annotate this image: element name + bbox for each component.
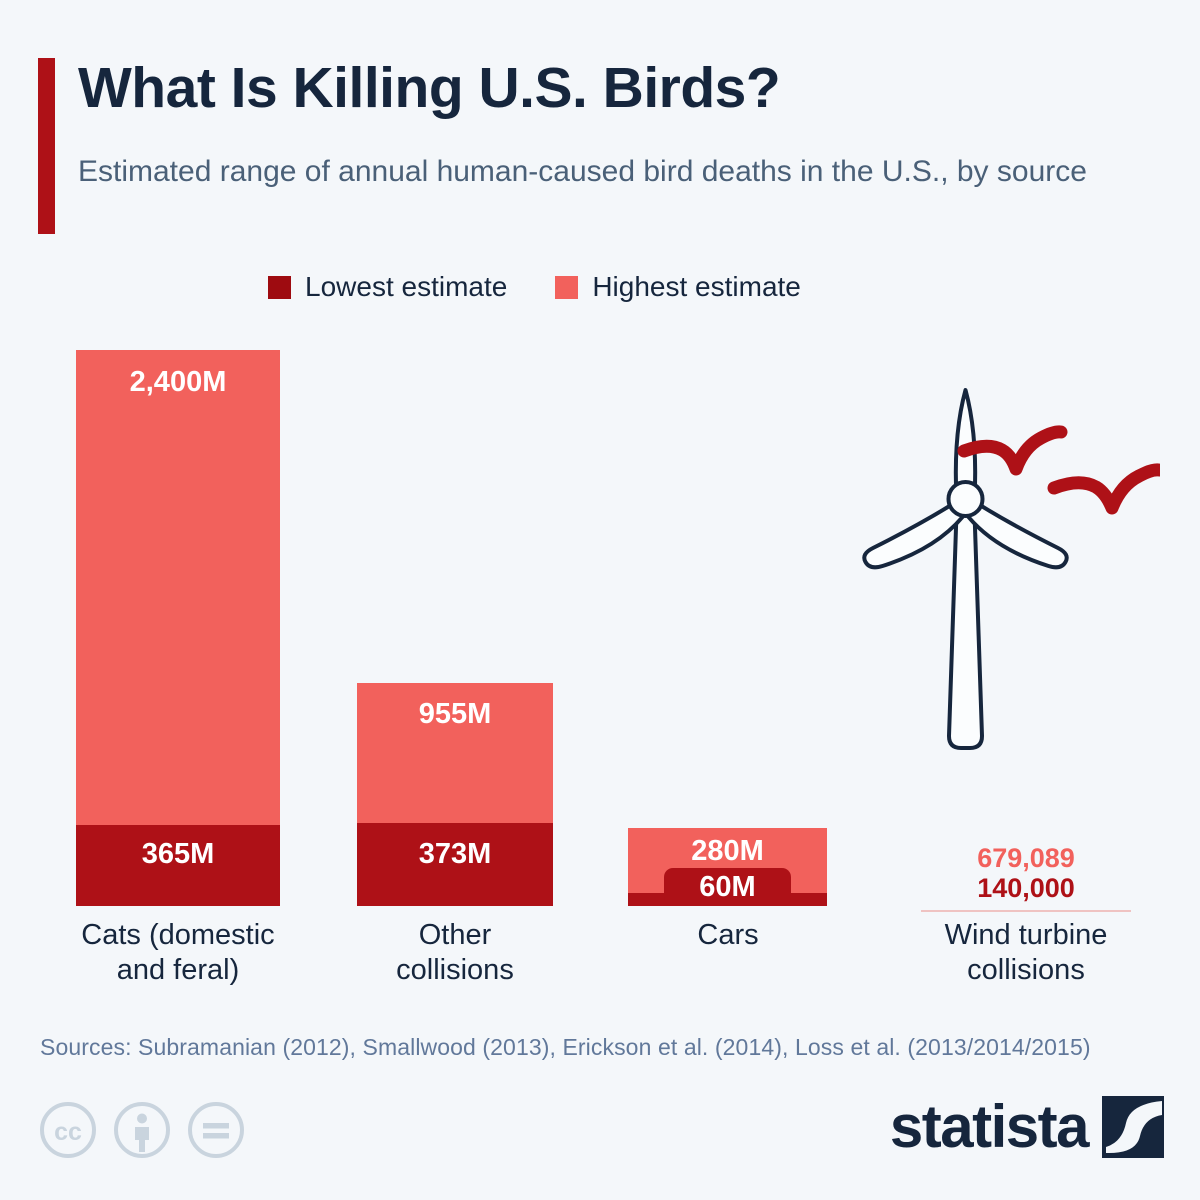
no-derivatives-icon[interactable]	[186, 1100, 246, 1160]
header: What Is Killing U.S. Birds? Estimated ra…	[0, 0, 1200, 260]
statista-logo[interactable]: statista	[890, 1096, 1164, 1158]
bar-value-lowest-cats: 365M	[76, 840, 280, 869]
page-subtitle: Estimated range of annual human-caused b…	[78, 152, 1087, 192]
accent-bar	[38, 58, 55, 234]
legend-item-highest[interactable]: Highest estimate	[555, 273, 801, 301]
bird-icon-2	[1054, 470, 1159, 508]
category-label-cats: Cats (domestic and feral)	[36, 918, 320, 989]
bar-value-highest-cats: 2,400M	[76, 368, 280, 397]
bird-icon-1	[964, 432, 1061, 469]
attribution-icon[interactable]	[112, 1100, 172, 1160]
bar-group-cats[interactable]: 2,400M 365M	[76, 350, 280, 906]
wind-turbine-illustration	[856, 378, 1160, 760]
legend-swatch-icon-highest	[555, 276, 578, 299]
category-label-wind-turbine: Wind turbine collisions	[896, 918, 1156, 989]
category-label-other-collisions-line1: Other	[419, 919, 492, 951]
category-label-cats-line2: and feral)	[117, 954, 240, 986]
bar-group-other-collisions[interactable]: 955M 373M	[357, 683, 553, 906]
bar-value-lowest-cars: 60M	[664, 868, 791, 906]
legend-swatch-icon-lowest	[268, 276, 291, 299]
bar-value-lowest-other-collisions: 373M	[357, 840, 553, 869]
category-label-cars: Cars	[608, 918, 848, 953]
page-title: What Is Killing U.S. Birds?	[78, 58, 780, 120]
bar-value-highest-wind-turbine: 679,089	[896, 843, 1156, 873]
cc-icon[interactable]: cc	[38, 1100, 98, 1160]
sources-note: Sources: Subramanian (2012), Smallwood (…	[40, 1034, 1091, 1061]
legend-label-lowest: Lowest estimate	[305, 273, 507, 301]
bar-group-cars[interactable]: 280M 60M	[628, 828, 827, 906]
category-label-other-collisions: Other collisions	[325, 918, 585, 989]
statista-mark-icon	[1102, 1096, 1164, 1158]
svg-text:cc: cc	[54, 1118, 82, 1146]
category-label-wind-turbine-line2: collisions	[967, 954, 1085, 986]
license-icons: cc	[38, 1100, 246, 1160]
bar-segment-highest-cats[interactable]	[76, 350, 280, 906]
wind-turbine-baseline-rule	[921, 910, 1131, 912]
category-label-other-collisions-line2: collisions	[396, 954, 514, 986]
statista-wordmark: statista	[890, 1097, 1088, 1157]
chart-legend: Lowest estimate Highest estimate	[268, 273, 801, 301]
bar-value-highest-cars: 280M	[628, 837, 827, 866]
bar-value-highest-other-collisions: 955M	[357, 700, 553, 729]
turbine-hub-icon	[949, 482, 983, 516]
legend-item-lowest[interactable]: Lowest estimate	[268, 273, 507, 301]
legend-label-highest: Highest estimate	[592, 273, 801, 301]
bar-value-lowest-wind-turbine: 140,000	[896, 873, 1156, 903]
category-label-wind-turbine-line1: Wind turbine	[945, 919, 1108, 951]
value-group-wind-turbine[interactable]: 679,089 140,000	[896, 843, 1156, 903]
category-label-cats-line1: Cats (domestic	[81, 919, 274, 951]
turbine-mast-icon	[949, 498, 982, 748]
category-label-cars-line1: Cars	[697, 919, 758, 951]
